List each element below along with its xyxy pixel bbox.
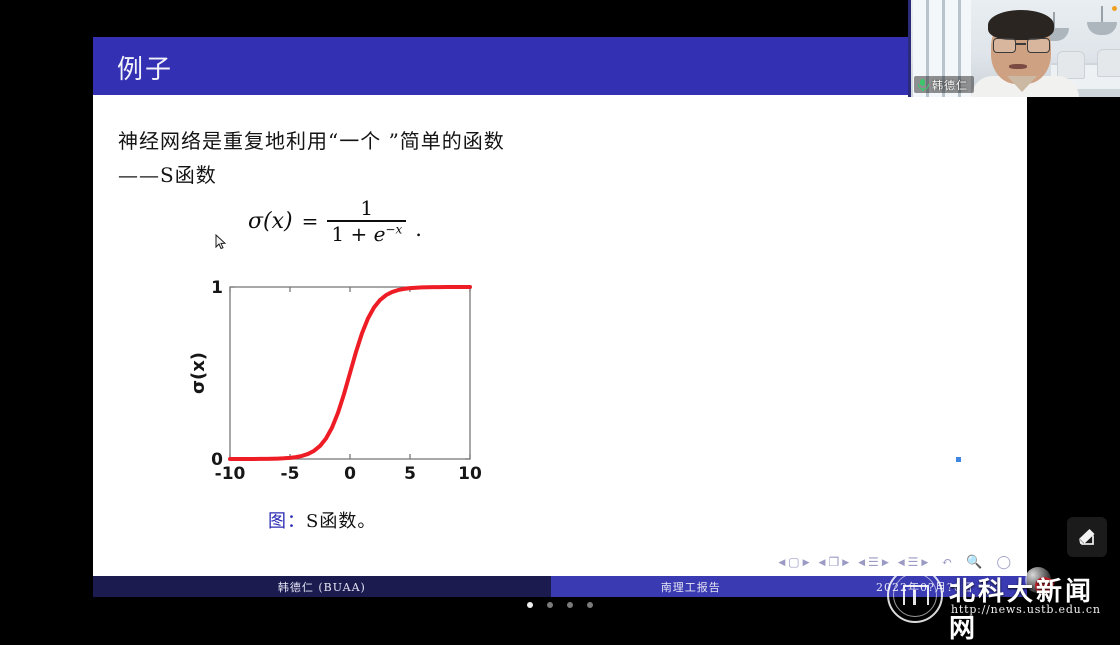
nav-subsection-icon[interactable]: ☰: [868, 555, 879, 570]
figure-caption-label: 图：: [268, 511, 306, 532]
nav-slide-icon[interactable]: ▢: [788, 555, 799, 570]
sigmoid-plot: -10-50510 01 σ(x): [188, 275, 583, 527]
webcam-nameplate: 韩德仁: [914, 76, 974, 93]
slide-title-bar: 例子: [93, 37, 1027, 95]
presenter-hair: [988, 10, 1054, 40]
slide-body-line-2: ——S函数: [118, 159, 217, 188]
microphone-icon: [917, 79, 928, 91]
nav-frame-icon[interactable]: ❐: [828, 555, 839, 570]
sigmoid-formula: σ(x) = 1 1 + e−x .: [248, 197, 422, 245]
y-axis-label: σ(x): [188, 352, 209, 394]
y-tick-label: 1: [211, 278, 223, 298]
presenter-figure: [969, 10, 1081, 97]
chair-shape: [1097, 49, 1120, 77]
mouse-cursor-icon: [215, 234, 227, 250]
nav-next-subsection-icon[interactable]: ▶: [882, 557, 889, 568]
page-dot-2[interactable]: [547, 602, 553, 608]
webcam-video-tile[interactable]: 韩德仁: [908, 0, 1120, 97]
x-tick-label: 10: [458, 464, 482, 484]
screen-backdrop: 例子 神经网络是重复地利用“一个 ”简单的函数 ——S函数 σ(x) = 1 1…: [0, 0, 1120, 630]
formula-numerator: 1: [350, 197, 383, 220]
x-tick-label: -5: [281, 464, 300, 484]
nav-back-icon[interactable]: ↶: [937, 554, 953, 570]
page-dot-1[interactable]: [527, 602, 533, 608]
page-indicator-dots[interactable]: [0, 602, 1120, 608]
formula-denominator: 1 + e−x: [327, 222, 406, 245]
participant-name: 韩德仁: [932, 77, 968, 93]
nav-group-frame[interactable]: ◀ ❐ ▶: [819, 555, 850, 570]
nav-search-icon[interactable]: 🔍: [962, 554, 983, 570]
glasses-icon: [993, 38, 1050, 52]
presenter-mouth: [1009, 64, 1027, 69]
nav-group-section[interactable]: ◀ ☰ ▶: [898, 555, 929, 570]
slide-footer: 韩德仁 (BUAA) 南理工报告 2022年0?月?0日: [93, 576, 1027, 597]
beamer-navigation-symbols[interactable]: ◀ ▢ ▶ ◀ ❐ ▶ ◀ ☰ ▶ ◀ ☰ ▶ ↶ 🔍 ◯: [778, 554, 1012, 570]
nav-group-slide[interactable]: ◀ ▢ ▶: [778, 555, 809, 570]
recording-indicator-icon: [1112, 6, 1117, 11]
sigmoid-figure: -10-50510 01 σ(x): [188, 275, 583, 527]
pendant-lamp-icon: [1087, 22, 1117, 35]
x-tick-label: 0: [344, 464, 356, 484]
figure-caption: 图：S函数。: [268, 507, 376, 533]
formula-denominator-base: e: [374, 222, 386, 246]
annotate-tool-button[interactable]: [1067, 517, 1107, 557]
footer-venue: 南理工报告: [551, 576, 831, 597]
nav-section-icon[interactable]: ☰: [908, 555, 919, 570]
formula-denominator-prefix: 1 +: [331, 222, 373, 246]
presentation-slide: 例子 神经网络是重复地利用“一个 ”简单的函数 ——S函数 σ(x) = 1 1…: [93, 37, 1027, 597]
y-axis-tick-labels: 01: [211, 278, 223, 470]
page-dot-4[interactable]: [587, 602, 593, 608]
figure-caption-text: S函数。: [306, 511, 376, 532]
page-dot-3[interactable]: [567, 602, 573, 608]
footer-date: 2022年0?月?0日: [831, 576, 1027, 597]
x-tick-label: 5: [404, 464, 416, 484]
nav-prev-frame-icon[interactable]: ◀: [819, 557, 826, 568]
glasses-left-lens: [993, 38, 1016, 53]
formula-fraction: 1 1 + e−x: [327, 197, 406, 245]
nav-prev-section-icon[interactable]: ◀: [898, 557, 905, 568]
glasses-right-lens: [1027, 38, 1050, 53]
slide-body-line-1: 神经网络是重复地利用“一个 ”简单的函数: [118, 125, 505, 154]
nav-next-slide-icon[interactable]: ▶: [803, 557, 810, 568]
formula-denominator-exponent: −x: [385, 222, 402, 236]
nav-prev-slide-icon[interactable]: ◀: [778, 557, 785, 568]
page-title: 例子: [117, 49, 173, 86]
footer-author: 韩德仁 (BUAA): [93, 576, 551, 597]
y-tick-label: 0: [211, 450, 223, 470]
formula-period: .: [415, 217, 422, 245]
nav-blank-icon[interactable]: ◯: [992, 554, 1012, 570]
nav-next-frame-icon[interactable]: ▶: [842, 557, 849, 568]
pen-annotate-icon: [1075, 525, 1099, 549]
nav-prev-subsection-icon[interactable]: ◀: [858, 557, 865, 568]
blue-pointer-dot: [956, 457, 961, 462]
watermark-swoosh-icon: [1025, 567, 1051, 593]
formula-lhs: σ(x): [248, 209, 293, 234]
x-axis-tick-labels: -10-50510: [215, 464, 482, 484]
nav-next-section-icon[interactable]: ▶: [921, 557, 928, 568]
formula-equals: =: [302, 209, 319, 233]
glasses-bridge: [1015, 43, 1026, 45]
nav-group-subsection[interactable]: ◀ ☰ ▶: [858, 555, 889, 570]
